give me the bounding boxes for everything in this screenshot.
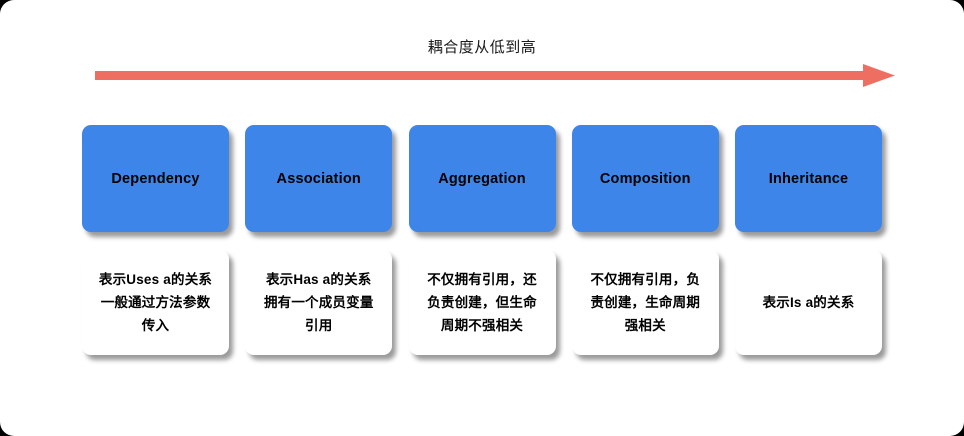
diagram-title: 耦合度从低到高	[0, 38, 964, 58]
description-card-text: 表示Is a的关系	[763, 291, 855, 314]
relationship-card-inheritance[interactable]: Inheritance	[735, 125, 882, 232]
relationship-card-label: Association	[277, 170, 361, 188]
description-card-text: 不仅拥有引用，还 负责创建，但生命 周期不强相关	[427, 268, 537, 337]
description-card-inheritance: 表示Is a的关系	[735, 250, 882, 355]
description-card-association: 表示Has a的关系 拥有一个成员变量 引用	[245, 250, 392, 355]
description-card-text: 不仅拥有引用，负 责创建，生命周期 强相关	[590, 268, 700, 337]
description-card-text: 表示Uses a的关系 一般通过方法参数 传入	[99, 268, 212, 337]
description-card-dependency: 表示Uses a的关系 一般通过方法参数 传入	[82, 250, 229, 355]
description-card-aggregation: 不仅拥有引用，还 负责创建，但生命 周期不强相关	[409, 250, 556, 355]
description-card-text: 表示Has a的关系 拥有一个成员变量 引用	[264, 268, 374, 337]
relationship-card-aggregation[interactable]: Aggregation	[409, 125, 556, 232]
arrow-shaft	[95, 71, 870, 80]
relationship-card-dependency[interactable]: Dependency	[82, 125, 229, 232]
relationship-description-row: 表示Uses a的关系 一般通过方法参数 传入 表示Has a的关系 拥有一个成…	[82, 250, 882, 355]
relationship-card-label: Dependency	[111, 170, 199, 188]
relationship-card-label: Aggregation	[438, 170, 526, 188]
arrow-head-icon	[863, 64, 895, 87]
relationship-card-label: Composition	[600, 170, 691, 188]
coupling-gradient-arrow	[95, 62, 895, 90]
relationship-card-association[interactable]: Association	[245, 125, 392, 232]
relationship-card-composition[interactable]: Composition	[572, 125, 719, 232]
diagram-canvas: 耦合度从低到高 Dependency Association Aggregati…	[0, 0, 964, 436]
description-card-composition: 不仅拥有引用，负 责创建，生命周期 强相关	[572, 250, 719, 355]
relationship-name-row: Dependency Association Aggregation Compo…	[82, 125, 882, 232]
relationship-card-label: Inheritance	[769, 170, 849, 188]
